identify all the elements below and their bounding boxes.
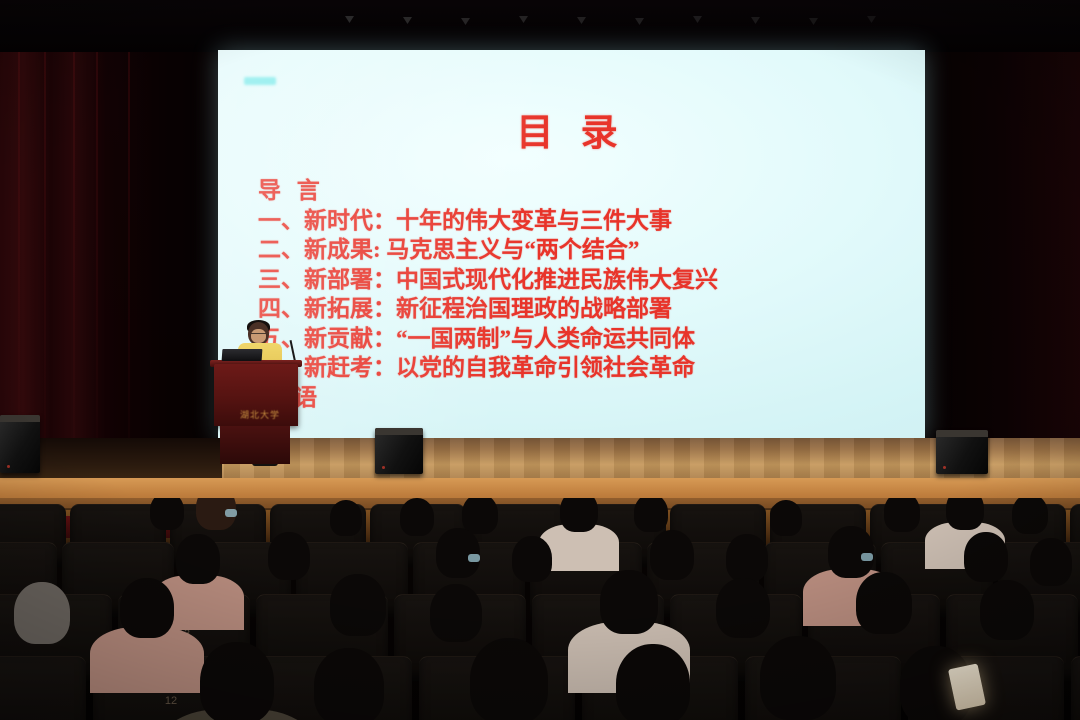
audience-member-head — [120, 578, 174, 638]
proscenium-header — [0, 0, 1080, 52]
audience-member-head — [964, 532, 1008, 582]
audience-member-head — [330, 500, 362, 536]
audience-member-head — [980, 580, 1034, 640]
audience-member-head — [770, 500, 802, 536]
audience-member-head — [330, 574, 386, 636]
slide-table-of-contents: 导 言一、新时代：十年的伟大变革与三件大事二、新成果: 马克思主义与“两个结合”… — [258, 176, 899, 412]
audience-member-head — [462, 498, 498, 534]
audience-member-head — [760, 636, 836, 720]
laptop-icon — [222, 349, 263, 361]
slide-line-item-3: 三、新部署：中国式现代化推进民族伟大复兴 — [258, 265, 899, 295]
audience-member-head — [400, 498, 434, 536]
audience-member-head — [600, 570, 658, 634]
slide-line-closing: 语 — [258, 383, 899, 413]
audience-member-head — [176, 534, 220, 584]
audience-member-head — [946, 498, 984, 530]
audience-member-head — [268, 532, 310, 580]
podium-base — [220, 426, 290, 464]
audience-member-head — [436, 528, 480, 578]
slide-title: 目 录 — [218, 102, 925, 156]
slide-line-item-4: 四、新拓展：新征程治国理政的战略部署 — [258, 294, 899, 324]
slide-line-item-6: 六、新赶考：以党的自我革命引领社会革命 — [258, 353, 899, 383]
slide-line-item-2: 二、新成果: 马克思主义与“两个结合” — [258, 235, 899, 265]
audience-member-head — [14, 582, 70, 644]
audience-member-head — [150, 498, 184, 530]
audience-member-head — [634, 498, 668, 532]
slide-corner-mark — [244, 77, 276, 85]
audience-member-head — [200, 642, 274, 720]
audience-member-head — [512, 536, 552, 582]
podium-body: 湖北大学 — [214, 364, 298, 426]
slide-line-item-1: 一、新时代：十年的伟大变革与三件大事 — [258, 206, 899, 236]
audience-member-head — [470, 638, 548, 720]
stage-monitor-center — [375, 428, 423, 474]
slide-line-lead: 导 言 — [258, 176, 899, 206]
stage-monitor-right — [936, 430, 988, 474]
audience-member-head — [726, 534, 768, 582]
audience-member-head — [884, 498, 920, 532]
lecture-hall-scene: 目 录 导 言一、新时代：十年的伟大变革与三件大事二、新成果: 马克思主义与“两… — [0, 0, 1080, 720]
audience-member-head — [828, 526, 874, 578]
stage-curtain-left — [0, 0, 230, 486]
audience-member-head — [1030, 538, 1072, 586]
audience-member-head — [430, 584, 482, 642]
face-mask-icon — [225, 509, 237, 517]
audience-area: 1315121216181812 — [0, 498, 1080, 720]
audience-member-head — [1012, 498, 1048, 534]
seat-number: 18 — [1071, 695, 1080, 707]
audience-seat — [0, 656, 86, 720]
face-mask-icon — [468, 554, 480, 562]
audience-member-head — [716, 578, 770, 638]
podium-label: 湖北大学 — [228, 409, 292, 422]
audience-member-head — [650, 530, 694, 580]
glasses-icon — [251, 333, 266, 337]
face-mask-icon — [861, 553, 873, 561]
audience-seat: 18 — [1071, 656, 1080, 720]
stage-monitor-left — [0, 415, 40, 473]
audience-member-head — [314, 648, 384, 720]
podium-and-presenter: 湖北大学 — [206, 322, 336, 482]
audience-member-head — [560, 498, 598, 532]
slide-line-item-5: 五、新贡献：“一国两制”与人类命运共同体 — [258, 324, 899, 354]
audience-member-head — [616, 644, 690, 720]
stage-curtain-right — [915, 0, 1080, 470]
audience-member-head — [856, 572, 912, 634]
